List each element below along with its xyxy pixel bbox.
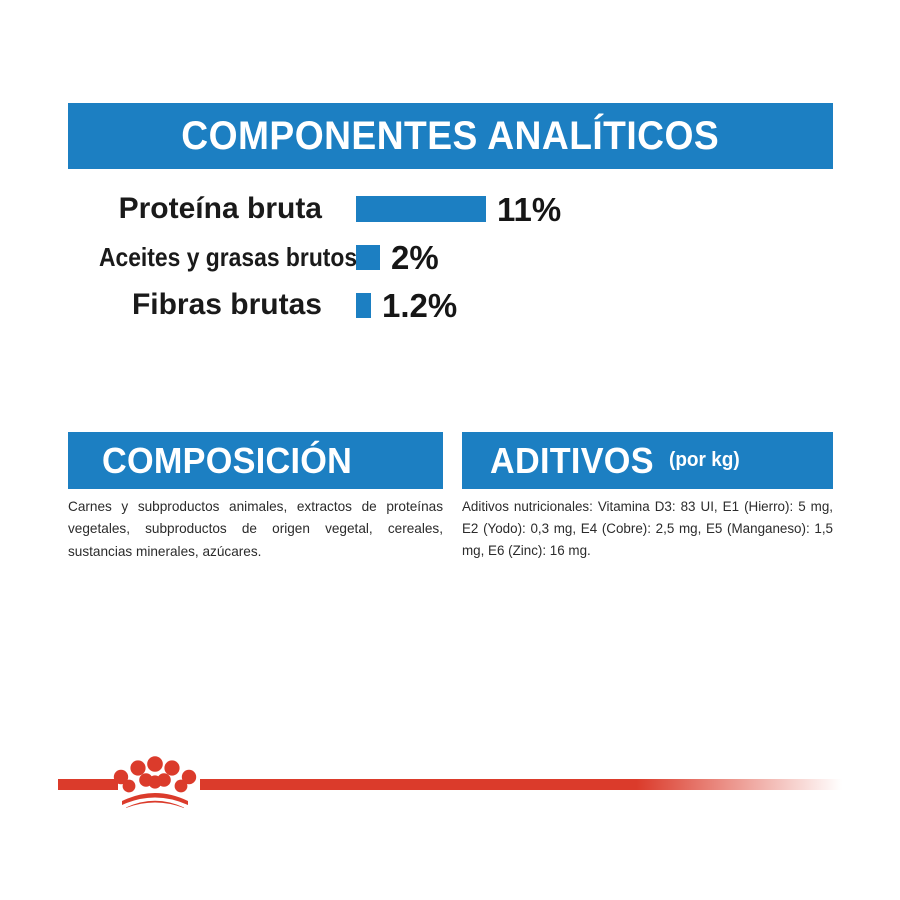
analytics-label-fibre: Fibras brutas <box>68 290 326 320</box>
analytics-row-fats: Aceites y grasas brutos 2% <box>68 234 833 280</box>
footer-rule-left <box>58 779 118 790</box>
aditivos-header-bar: ADITIVOS (por kg) <box>462 432 833 489</box>
analytics-rows: Proteína bruta 11% Aceites y grasas brut… <box>68 186 833 330</box>
analytics-bar-protein <box>356 196 486 222</box>
analytics-bar-fibre <box>356 293 371 318</box>
composicion-panel: COMPOSICIÓN Carnes y subproductos animal… <box>68 432 443 563</box>
composicion-title: COMPOSICIÓN <box>102 440 352 482</box>
footer <box>0 752 900 814</box>
analytics-row-protein: Proteína bruta 11% <box>68 186 833 232</box>
composicion-body-text: Carnes y subproductos animales, extracto… <box>68 496 443 563</box>
aditivos-body-text: Aditivos nutricionales: Vitamina D3: 83 … <box>462 496 833 562</box>
analytics-label-protein: Proteína bruta <box>68 194 326 224</box>
aditivos-panel: ADITIVOS (por kg) Aditivos nutricionales… <box>462 432 833 562</box>
analytics-label-fats: Aceites y grasas brutos <box>99 244 326 270</box>
analytics-value-fats: 2% <box>391 241 439 274</box>
analytics-bar-wrap-protein: 11% <box>356 193 561 226</box>
analytics-bar-fats <box>356 245 380 270</box>
analytics-header-bar: COMPONENTES ANALÍTICOS <box>68 103 833 169</box>
aditivos-title: ADITIVOS <box>490 440 654 482</box>
aditivos-title-subtitle: (por kg) <box>669 449 740 472</box>
analytics-value-protein: 11% <box>497 193 561 226</box>
analytics-row-fibre: Fibras brutas 1.2% <box>68 282 833 328</box>
royal-canin-crown-logo <box>112 752 198 808</box>
footer-rule-right <box>200 779 842 790</box>
analytics-bar-wrap-fibre: 1.2% <box>356 289 457 322</box>
analytics-value-fibre: 1.2% <box>382 289 457 322</box>
analytics-header-title: COMPONENTES ANALÍTICOS <box>182 114 720 159</box>
composicion-header-bar: COMPOSICIÓN <box>68 432 443 489</box>
analytics-bar-wrap-fats: 2% <box>356 241 439 274</box>
nutrition-panel: COMPONENTES ANALÍTICOS Proteína bruta 11… <box>0 0 900 900</box>
